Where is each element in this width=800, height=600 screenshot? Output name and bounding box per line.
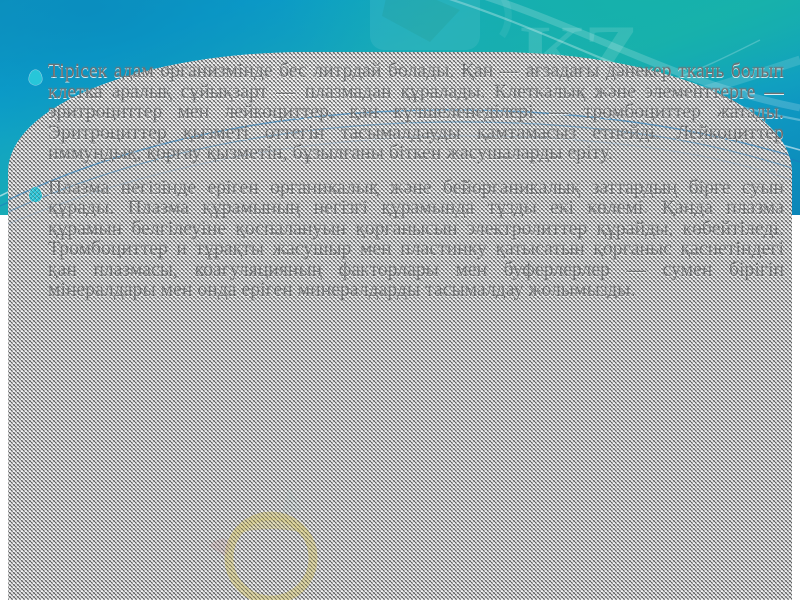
diamond-bullet-icon	[29, 187, 42, 202]
paragraph-text: Плазма негізінде еріген органикалық және…	[48, 179, 784, 302]
bullet-marker-wrap	[22, 179, 48, 202]
bullet-list-item: Tiрiсeк адам организмiндe бес литрдай бо…	[22, 62, 784, 165]
bullet-marker-wrap	[22, 62, 48, 85]
diamond-bullet-icon	[29, 70, 42, 85]
paragraph-text: Tiрiсeк адам организмiндe бес литрдай бо…	[48, 62, 784, 165]
bullet-list-item: Плазма негізінде еріген органикалық және…	[22, 179, 784, 302]
slide-body: Tiрiсeк адам организмiндe бес литрдай бо…	[22, 62, 784, 302]
presentation-slide: KZ KZ	[0, 0, 800, 600]
